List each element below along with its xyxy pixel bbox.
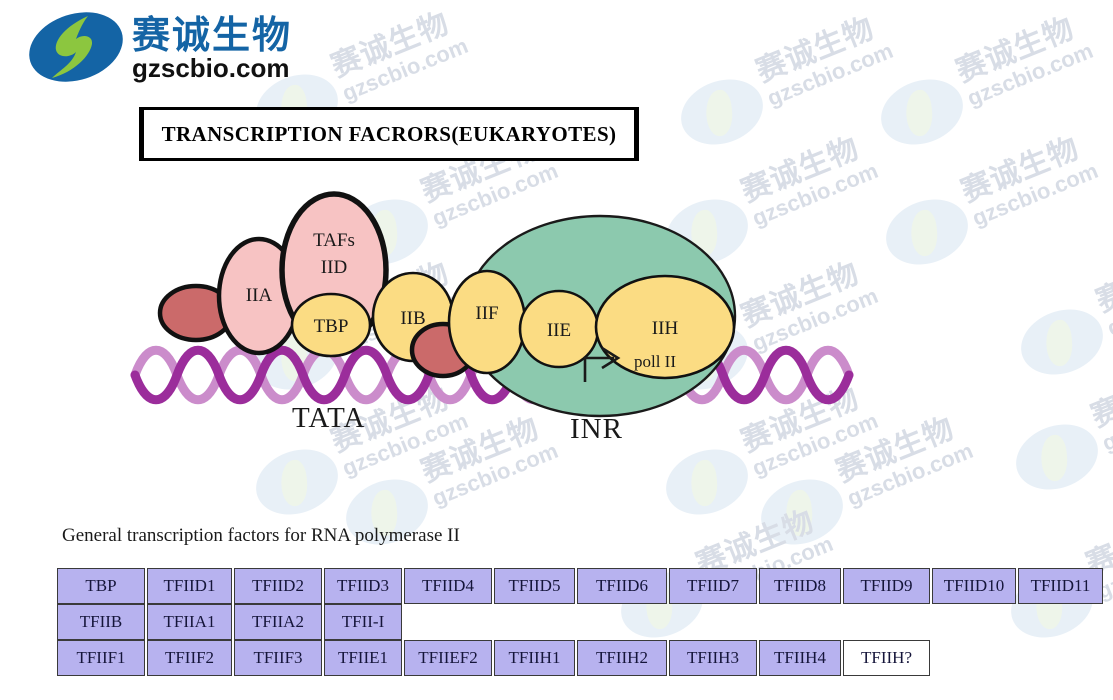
table-cell[interactable]: TFIIH4 (759, 640, 841, 676)
inr-label: INR (570, 413, 623, 446)
table-cell[interactable]: TFIIEF2 (404, 640, 492, 676)
table-cell[interactable]: TFIID9 (843, 568, 930, 604)
watermark-chinese-text: 赛诚生物 (952, 9, 1087, 88)
logo-chinese-name: 赛诚生物 (132, 16, 292, 56)
table-cell[interactable]: TFIID3 (324, 568, 402, 604)
table-cell[interactable]: TFIIF1 (57, 640, 145, 676)
watermark-tile: 赛诚生物gzscbio.com (345, 455, 575, 565)
table-cell[interactable]: TFIID10 (932, 568, 1016, 604)
table-cell[interactable]: TFIID1 (147, 568, 232, 604)
table-cell[interactable]: TFIID11 (1018, 568, 1103, 604)
table-cell[interactable]: TFIID8 (759, 568, 841, 604)
watermark-domain-text: gzscbio.com (764, 38, 896, 109)
slide-title-box: TRANSCRIPTION FACRORS(EUKARYOTES) (139, 107, 639, 161)
poll-ii-label: poll II (634, 352, 676, 371)
factor-iid-label-iid: IID (321, 257, 347, 278)
watermark-domain-text: gzscbio.com (339, 33, 471, 104)
tata-box-label: TATA (292, 402, 365, 435)
factor-iib-label: IIB (400, 308, 425, 329)
table-row: TBPTFIID1TFIID2TFIID3TFIID4TFIID5TFIID6T… (57, 568, 1105, 604)
swoosh-oval-logo-icon (26, 8, 126, 86)
watermark-text: 赛诚生物gzscbio.com (327, 4, 471, 105)
table-cell[interactable]: TFIIF3 (234, 640, 322, 676)
watermark-tile: 赛诚生物gzscbio.com (680, 55, 910, 165)
company-logo: 赛诚生物 gzscbio.com (26, 8, 292, 86)
table-cell[interactable]: TFII-I (324, 604, 402, 640)
watermark-domain-text: gzscbio.com (964, 38, 1096, 109)
watermark-chinese-text: 赛诚生物 (327, 4, 462, 83)
factor-iid-label-tafs: TAFs (313, 230, 355, 251)
watermark-text: 赛诚生物gzscbio.com (752, 9, 896, 110)
watermark-tile: 赛诚生物gzscbio.com (880, 55, 1110, 165)
slide-canvas: 赛诚生物gzscbio.com赛诚生物gzscbio.com赛诚生物gzscbi… (0, 0, 1113, 700)
table-cell[interactable]: TFIIH2 (577, 640, 667, 676)
logo-domain: gzscbio.com (132, 55, 292, 82)
table-cell[interactable]: TFIIH3 (669, 640, 757, 676)
factor-iih-label: IIH (652, 318, 679, 339)
factor-tbp-label: TBP (314, 316, 349, 337)
watermark-logo-icon (672, 69, 772, 156)
table-cell[interactable]: TFIIE1 (324, 640, 402, 676)
factor-iia-label: IIA (246, 285, 273, 306)
factor-iie-label: IIE (547, 320, 571, 341)
table-cell[interactable]: TFIIH1 (494, 640, 575, 676)
table-cell[interactable]: TFIID5 (494, 568, 575, 604)
table-cell[interactable]: TFIID2 (234, 568, 322, 604)
table-cell[interactable]: TBP (57, 568, 145, 604)
watermark-logo-icon (872, 69, 972, 156)
transcription-factor-table: TBPTFIID1TFIID2TFIID3TFIID4TFIID5TFIID6T… (57, 568, 1105, 676)
factor-iif-label: IIF (475, 303, 498, 324)
table-row: TFIIBTFIIA1TFIIA2TFII-I (57, 604, 1105, 640)
table-cell[interactable]: TFIID6 (577, 568, 667, 604)
table-cell[interactable]: TFIIA1 (147, 604, 232, 640)
table-cell[interactable]: TFIIB (57, 604, 145, 640)
transcription-complex-diagram: IIA TAFs IID TBP IIB IIF IIE IIH (0, 170, 1113, 460)
watermark-text: 赛诚生物gzscbio.com (952, 9, 1096, 110)
table-cell[interactable]: TFIIH? (843, 640, 930, 676)
table-cell[interactable]: TFIIF2 (147, 640, 232, 676)
watermark-chinese-text: 赛诚生物 (752, 9, 887, 88)
page-title: TRANSCRIPTION FACRORS(EUKARYOTES) (162, 122, 617, 147)
table-row: TFIIF1TFIIF2TFIIF3TFIIE1TFIIEF2TFIIH1TFI… (57, 640, 1105, 676)
watermark-tile: 赛诚生物gzscbio.com (760, 455, 990, 565)
watermark-logo-icon (752, 469, 852, 556)
table-cell[interactable]: TFIID7 (669, 568, 757, 604)
table-cell[interactable]: TFIID4 (404, 568, 492, 604)
table-caption: General transcription factors for RNA po… (62, 525, 460, 547)
table-cell[interactable]: TFIIA2 (234, 604, 322, 640)
